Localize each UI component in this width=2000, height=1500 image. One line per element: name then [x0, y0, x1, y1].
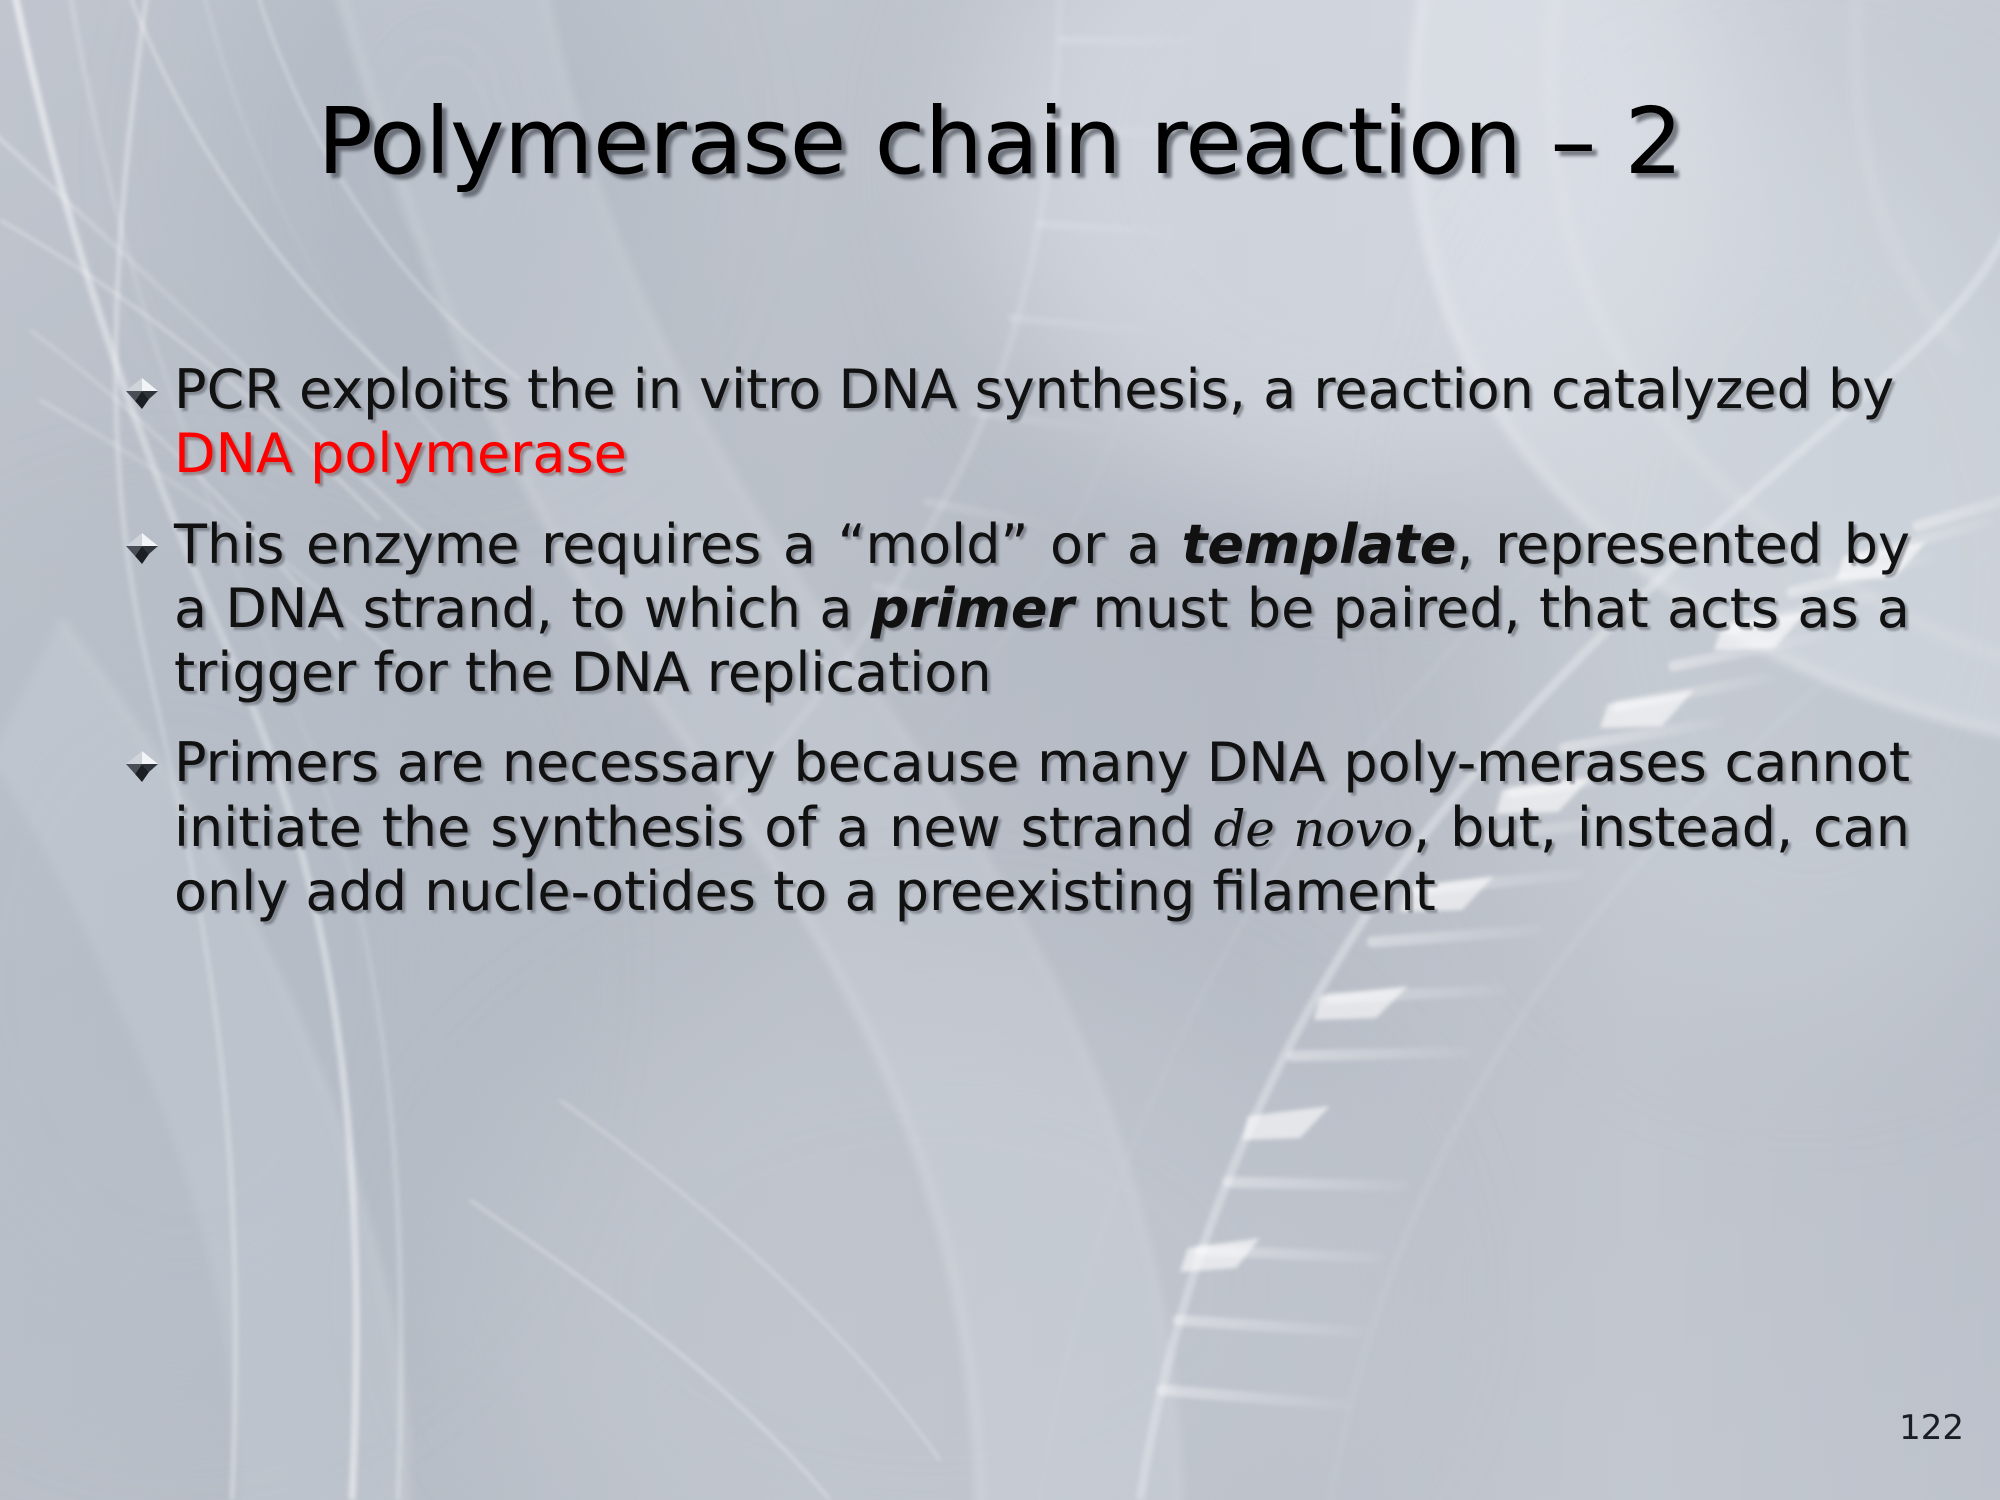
bullet-run-emphasis: primer [871, 577, 1074, 640]
bullet-run-highlight: DNA polymerase [174, 422, 627, 485]
bullet-item: This enzyme requires a “mold” or a templ… [120, 513, 1910, 706]
bullet-item: Primers are necessary because many DNA p… [120, 731, 1910, 924]
diamond-arrow-bullet-icon [120, 376, 164, 410]
diamond-arrow-bullet-icon [120, 531, 164, 565]
bullet-text: PCR exploits the in vitro DNA synthesis,… [174, 358, 1910, 487]
bullet-list: PCR exploits the in vitro DNA synthesis,… [120, 358, 1910, 924]
bullet-run-text: PCR exploits the in vitro DNA synthesis,… [174, 358, 1894, 421]
bullet-item: PCR exploits the in vitro DNA synthesis,… [120, 358, 1910, 487]
bullet-run-text: This enzyme requires a “mold” or a [174, 513, 1182, 576]
page-number: 122 [1899, 1408, 1964, 1448]
slide-title: Polymerase chain reaction – 2 [0, 96, 2000, 188]
slide-content: Polymerase chain reaction – 2 PCR exploi… [0, 0, 2000, 1500]
bullet-text: Primers are necessary because many DNA p… [174, 731, 1910, 924]
bullet-run-emphasis: template [1182, 513, 1457, 576]
bullet-text: This enzyme requires a “mold” or a templ… [174, 513, 1910, 706]
slide-canvas: Polymerase chain reaction – 2 PCR exploi… [0, 0, 2000, 1500]
bullet-run-latin-term: de novo [1214, 800, 1414, 858]
diamond-arrow-bullet-icon [120, 749, 164, 783]
